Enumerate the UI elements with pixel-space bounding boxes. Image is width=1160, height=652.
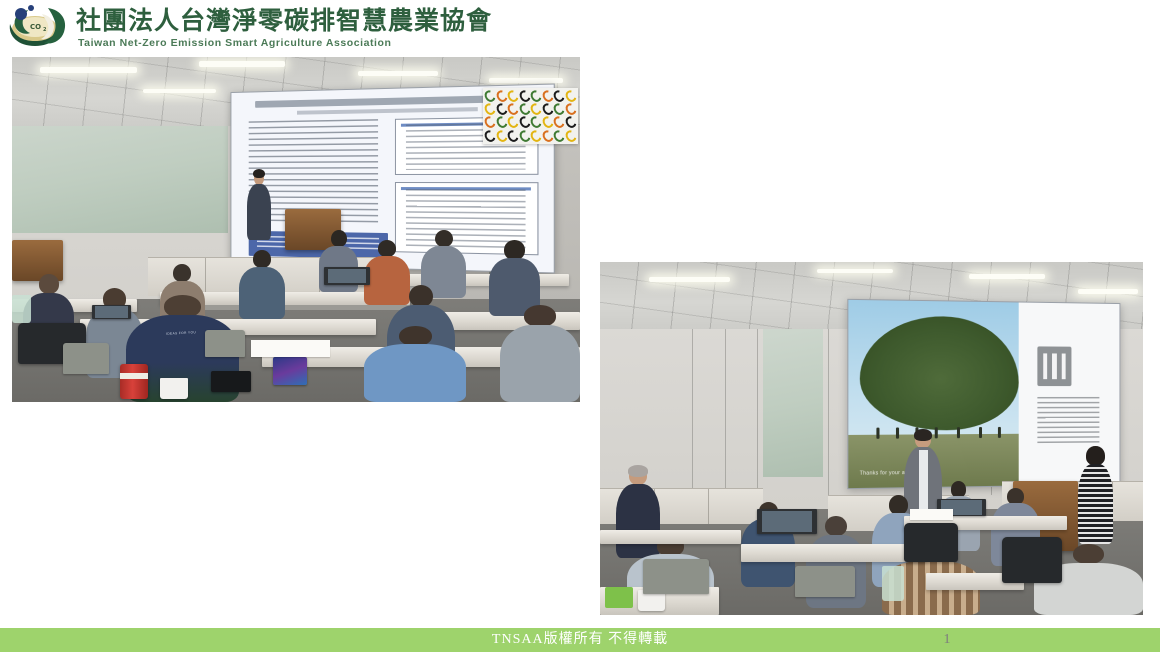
document-paper: [251, 340, 331, 357]
backpack: [1002, 537, 1062, 583]
seminar-room-photo-right: Thanks for your attention: [600, 262, 1143, 615]
laptop: [324, 267, 369, 284]
water-bottle: [12, 295, 31, 323]
backpack: [904, 523, 958, 562]
organization-title-en: Taiwan Net-Zero Emission Smart Agricultu…: [78, 38, 391, 49]
page-number: 1: [930, 629, 964, 651]
female-host: [1078, 449, 1113, 544]
notebook: [910, 509, 953, 520]
svg-text:CO: CO: [30, 23, 41, 31]
seminar-room-photo-left: IDEAS FOR YOU: [12, 57, 580, 402]
laptop: [757, 509, 817, 534]
green-tote-bag: [605, 587, 632, 608]
laptop: [92, 305, 132, 319]
lit-smartphone: [273, 357, 307, 385]
crescent-c-wall-art: [483, 88, 578, 144]
presenter: [245, 171, 273, 240]
white-mug: [160, 378, 188, 399]
building-pillars-logo-icon: [1037, 346, 1071, 386]
presentation-slide: CO 2 社團法人台灣淨零碳排智慧農業協會 Taiwan Net-Zero Em…: [0, 0, 1160, 652]
footer-copyright: TNSAA版權所有 不得轉載: [0, 629, 1160, 651]
svg-text:2: 2: [43, 27, 47, 33]
organization-title-zh: 社團法人台灣淨零碳排智慧農業協會: [76, 9, 492, 34]
water-bottle: [882, 566, 904, 601]
slide-header: CO 2 社團法人台灣淨零碳排智慧農業協會 Taiwan Net-Zero Em…: [0, 0, 1160, 52]
black-phone: [211, 371, 251, 392]
red-thermos: [120, 364, 148, 399]
co2-leaf-logo-icon: CO 2: [4, 2, 72, 50]
